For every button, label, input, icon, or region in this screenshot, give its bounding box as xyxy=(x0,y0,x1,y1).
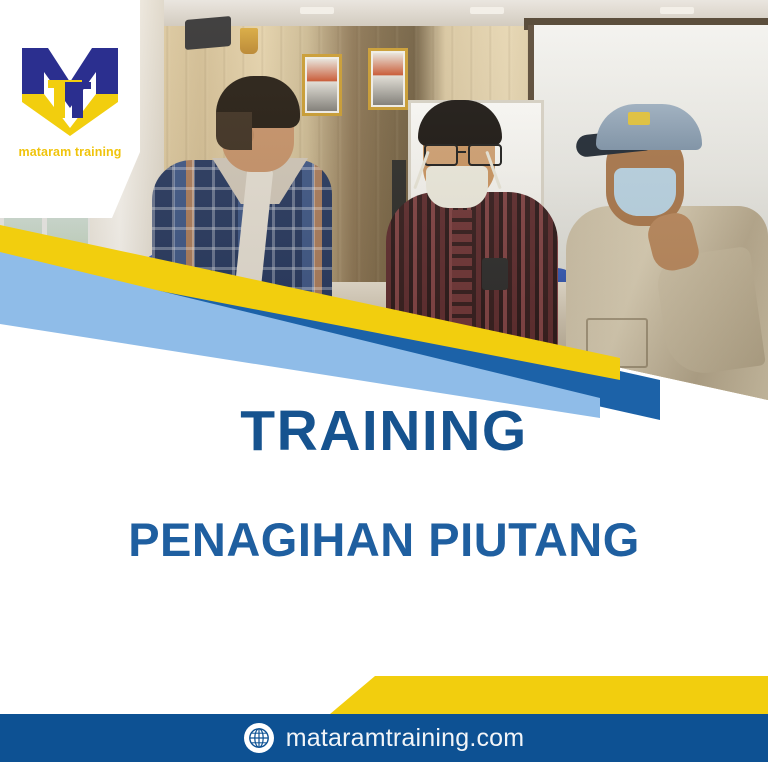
glasses-bridge xyxy=(456,151,466,153)
lens-left xyxy=(424,144,458,166)
title-line-1: TRAINING xyxy=(0,398,768,464)
name-badge xyxy=(482,258,508,290)
hair-fade xyxy=(216,112,252,150)
ceiling-light xyxy=(470,7,504,14)
title-line-2: PENAGIHAN PIUTANG xyxy=(0,512,768,567)
wall-speaker xyxy=(185,16,231,50)
poster-canvas: mataram training TRAINING PENAGIHAN PIUT… xyxy=(0,0,768,768)
wall-emblem xyxy=(240,28,258,54)
face-mask-lowered xyxy=(426,166,488,208)
logo-card: mataram training xyxy=(0,0,140,218)
logo-caption: mataram training xyxy=(0,145,140,159)
cap-logo xyxy=(628,112,650,125)
lens-right xyxy=(468,144,502,166)
yellow-accent-bar xyxy=(0,676,768,716)
blue-face-mask xyxy=(614,168,676,216)
mataram-m-monogram-icon xyxy=(18,42,122,138)
footer-content: mataramtraining.com xyxy=(0,714,768,762)
globe-icon xyxy=(244,723,274,753)
framed-portrait xyxy=(368,48,408,110)
portrait-image xyxy=(373,53,403,105)
ceiling-light xyxy=(660,7,694,14)
website-url[interactable]: mataramtraining.com xyxy=(286,724,525,753)
portrait-image xyxy=(307,59,337,111)
ceiling-light xyxy=(300,7,334,14)
footer-bar: mataramtraining.com xyxy=(0,714,768,762)
framed-portrait xyxy=(302,54,342,116)
